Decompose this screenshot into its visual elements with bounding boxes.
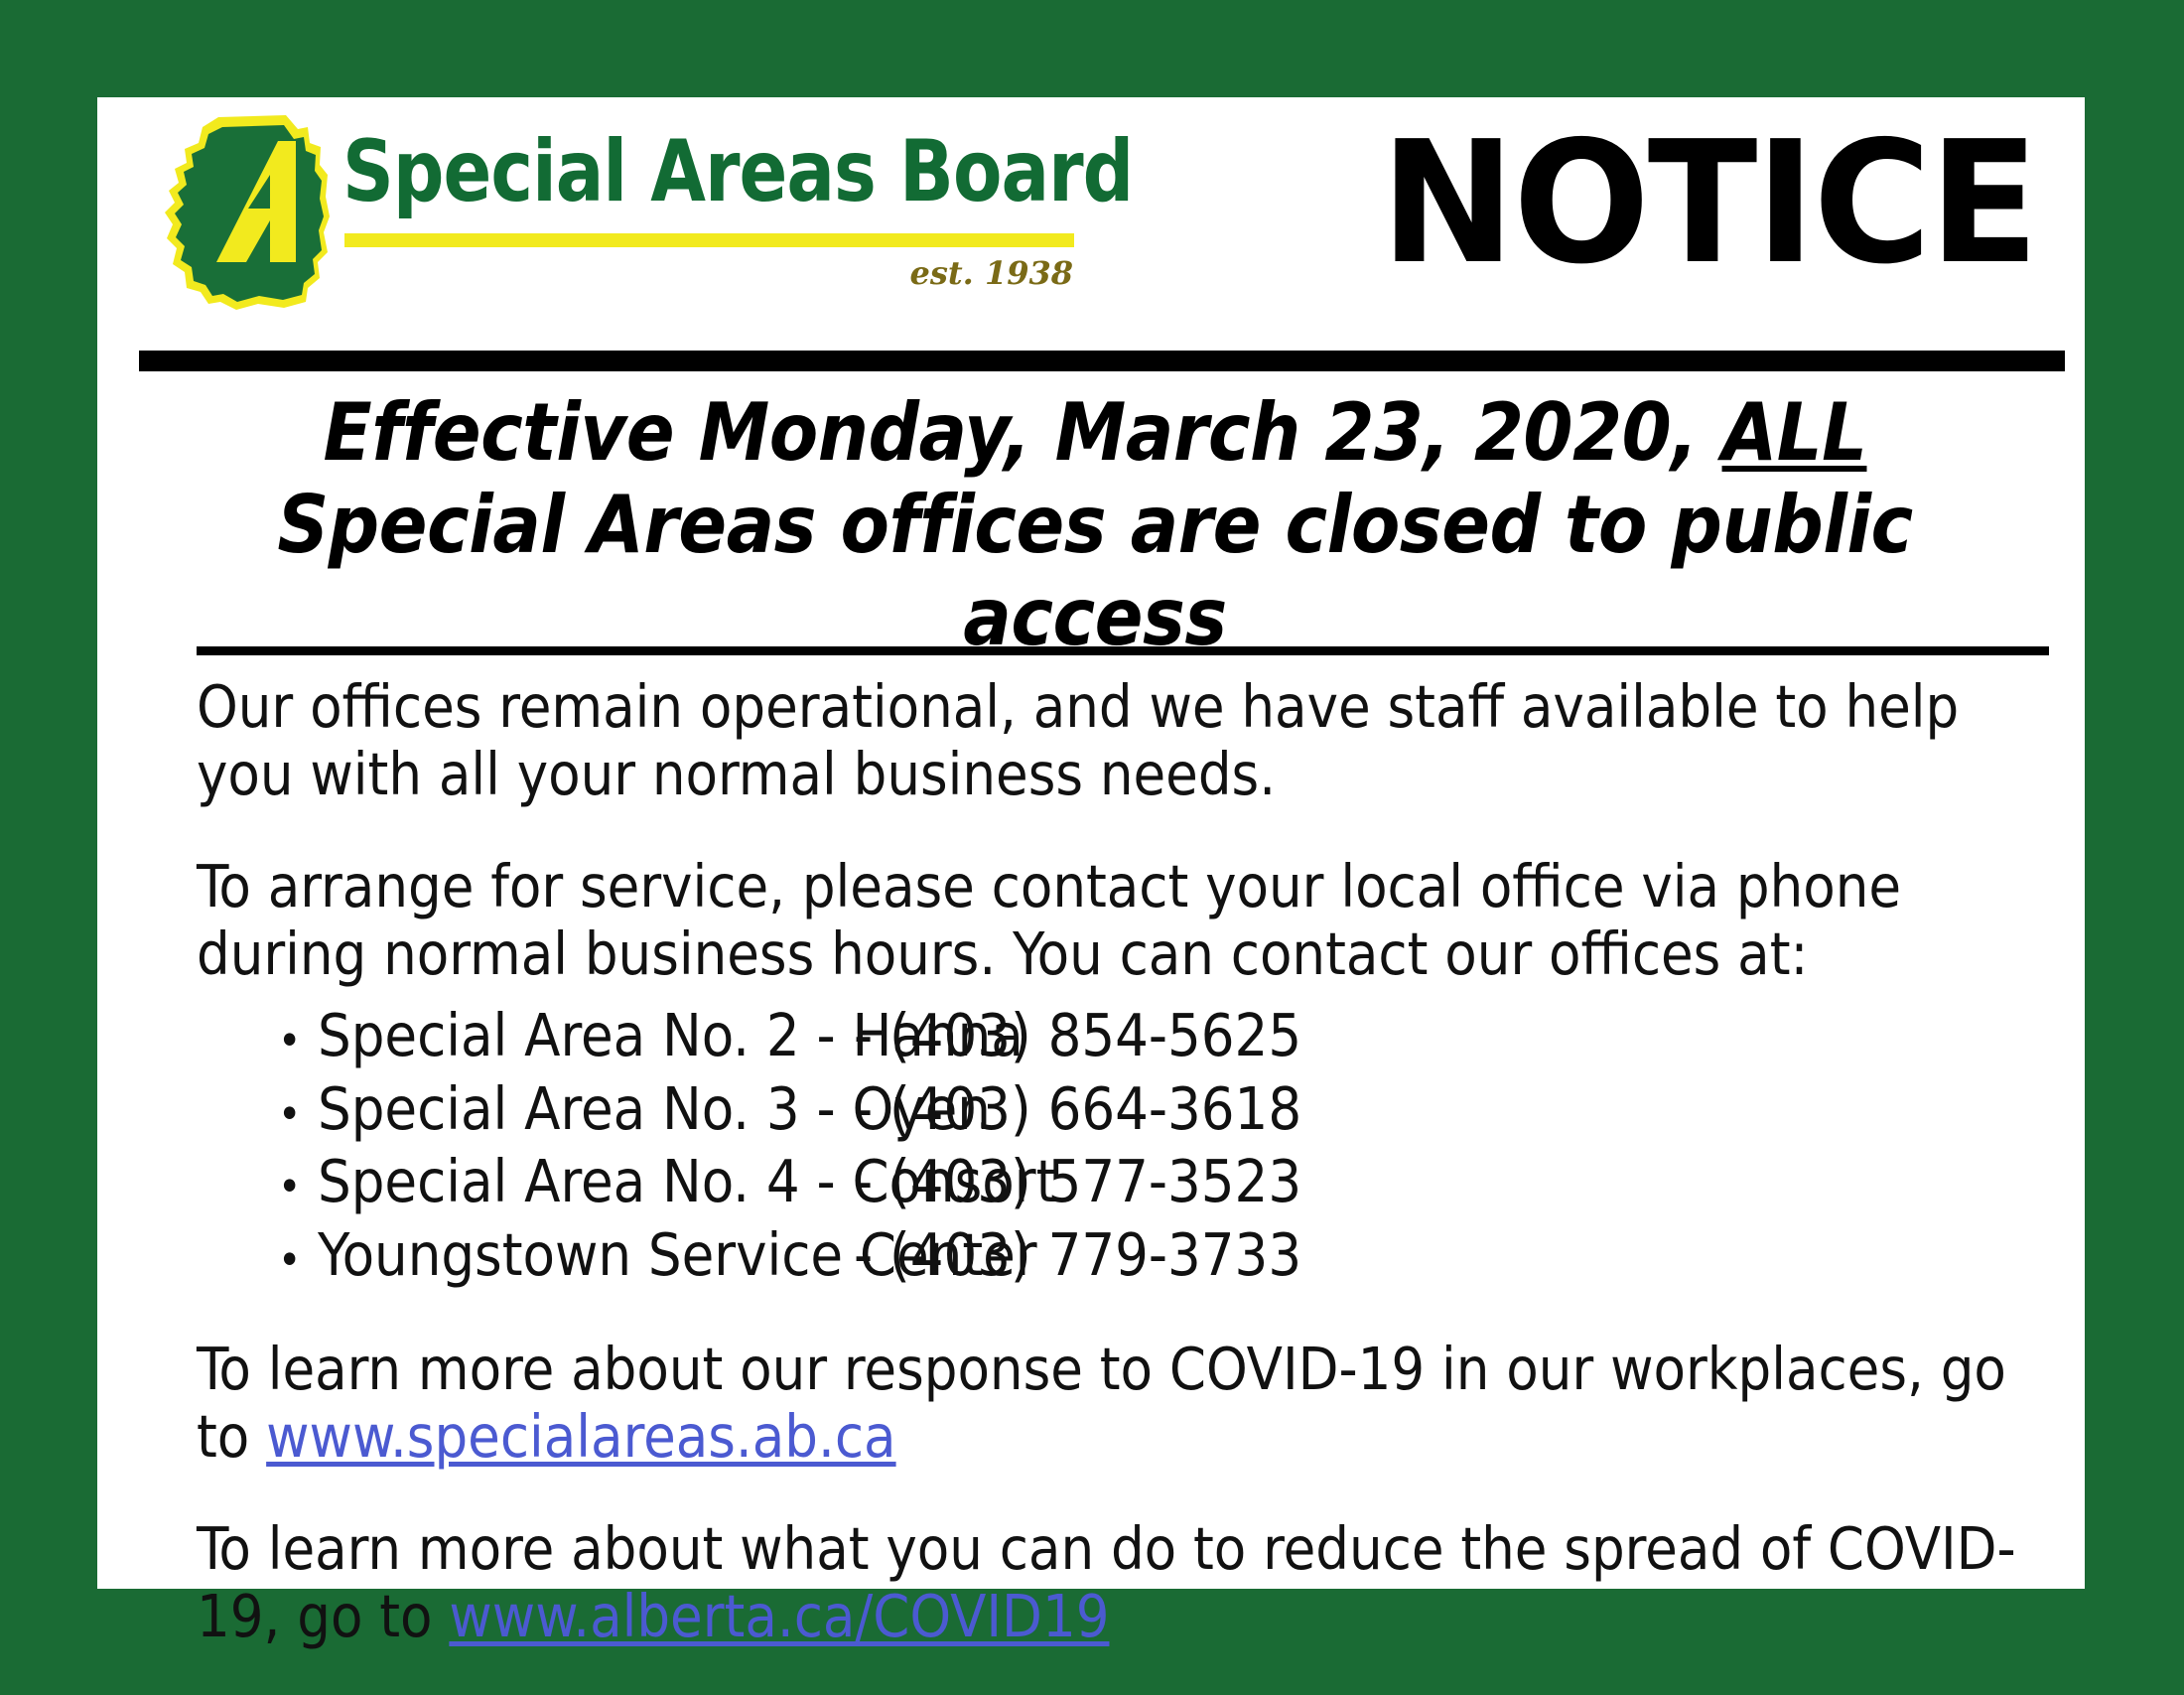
list-item: • Youngstown Service Center - (403) 779-…	[278, 1218, 2043, 1292]
established-year: est. 1938	[910, 254, 1074, 292]
special-areas-map-a-logo-icon	[159, 113, 333, 312]
bullet-icon: •	[278, 1093, 318, 1137]
headline-emphasis-all: ALL	[1722, 386, 1867, 479]
office-name: Special Area No. 2 - Hanna	[318, 999, 854, 1072]
paragraph-contact-intro: To arrange for service, please contact y…	[197, 853, 2043, 989]
wordmark-underline-bar	[344, 233, 1074, 247]
paragraph-covid-spread: To learn more about what you can do to r…	[197, 1515, 2043, 1651]
bullet-icon: •	[278, 1239, 318, 1283]
office-phone: - (403) 779-3733	[854, 1218, 1301, 1292]
organization-name: Special Areas Board	[342, 133, 1081, 212]
headline: Effective Monday, March 23, 2020, ALL Sp…	[137, 387, 2053, 663]
bullet-icon: •	[278, 1020, 318, 1063]
body-content: Our offices remain operational, and we h…	[197, 673, 2043, 1695]
paragraph-operational: Our offices remain operational, and we h…	[197, 673, 2043, 809]
bullet-icon: •	[278, 1166, 318, 1209]
headline-line1-prefix: Effective Monday, March 23, 2020,	[324, 386, 1722, 479]
office-phone: - (403) 854-5625	[854, 999, 1301, 1072]
link-specialareas[interactable]: www.specialareas.ab.ca	[266, 1402, 895, 1471]
headline-line2: Special Areas offices are closed to publ…	[137, 480, 2053, 664]
poster-header: Special Areas Board est. 1938 NOTICE	[97, 97, 2085, 311]
headline-divider-thin	[197, 646, 2049, 655]
header-divider-thick	[139, 351, 2065, 371]
paragraph-covid-response: To learn more about our response to COVI…	[197, 1336, 2043, 1472]
office-name: Youngstown Service Center	[318, 1218, 854, 1292]
office-name: Special Area No. 4 - Consort	[318, 1145, 854, 1218]
organization-logo: Special Areas Board est. 1938	[159, 107, 1152, 311]
office-phone: - (403) 664-3618	[854, 1072, 1301, 1146]
office-phone: - (403) 577-3523	[854, 1145, 1301, 1218]
office-name: Special Area No. 3 - Oyen	[318, 1072, 854, 1146]
list-item: • Special Area No. 3 - Oyen - (403) 664-…	[278, 1072, 2043, 1146]
list-item: • Special Area No. 2 - Hanna - (403) 854…	[278, 999, 2043, 1072]
organization-wordmark: Special Areas Board est. 1938	[342, 133, 1137, 212]
office-contact-list: • Special Area No. 2 - Hanna - (403) 854…	[197, 999, 2043, 1292]
notice-card: Special Areas Board est. 1938 NOTICE Eff…	[97, 97, 2085, 1589]
link-alberta-covid19[interactable]: www.alberta.ca/COVID19	[449, 1582, 1109, 1650]
page-title: NOTICE	[1381, 119, 2037, 288]
notice-poster: Special Areas Board est. 1938 NOTICE Eff…	[0, 0, 2184, 1688]
list-item: • Special Area No. 4 - Consort - (403) 5…	[278, 1145, 2043, 1218]
